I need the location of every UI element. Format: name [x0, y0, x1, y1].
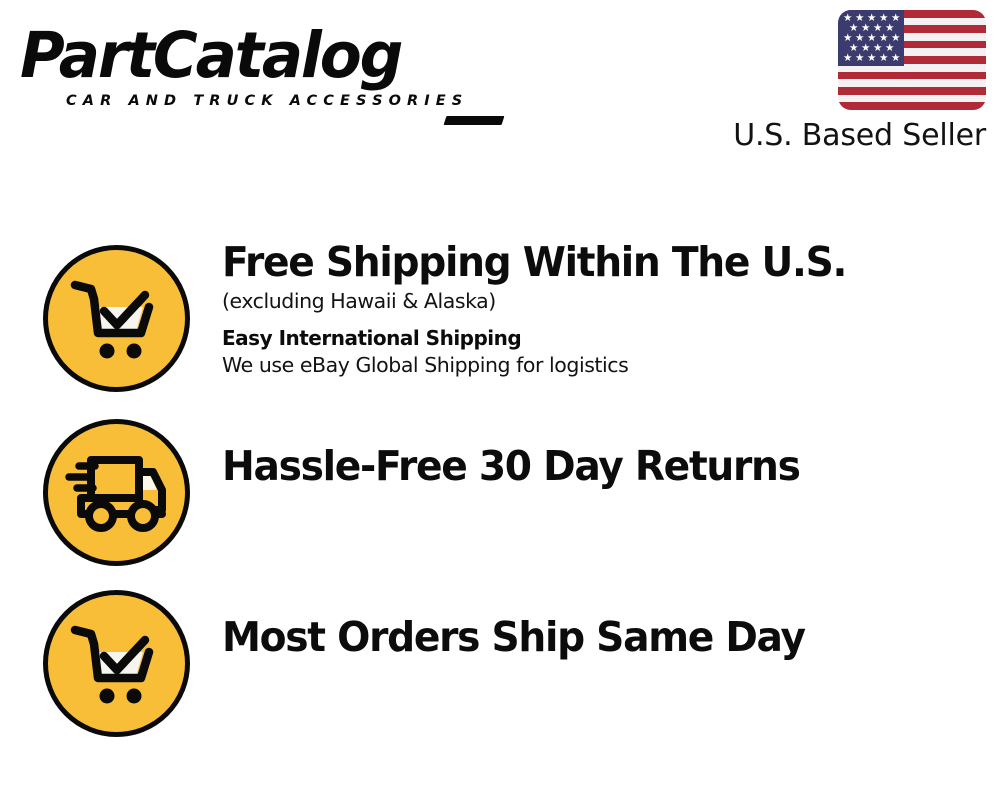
feature-title: Hassle-Free 30 Day Returns [222, 444, 957, 488]
brand-wordmark: PartCatalog [20, 24, 401, 87]
shopping-cart-check-icon [43, 590, 190, 737]
us-based-seller-label: U.S. Based Seller [733, 118, 986, 153]
feature-subtitle-detail: We use eBay Global Shipping for logistic… [222, 353, 992, 378]
delivery-truck-icon [43, 419, 190, 566]
feature-title: Free Shipping Within The U.S. [222, 240, 957, 284]
shopping-cart-check-icon [43, 245, 190, 392]
promo-banner: PartCatalog CAR AND TRUCK ACCESSORIES ★ … [0, 0, 1000, 800]
flag-stars: ★ ★ ★ ★ ★ ★ ★ ★ ★ ★ ★ ★ ★ ★ ★ ★ ★ ★ ★ ★ … [838, 10, 904, 66]
brand-tagline: CAR AND TRUCK ACCESSORIES [66, 94, 468, 109]
brand-logo[interactable]: PartCatalog CAR AND TRUCK ACCESSORIES [20, 24, 500, 116]
feature-title: Most Orders Ship Same Day [222, 615, 957, 659]
feature-text-block: Free Shipping Within The U.S. (excluding… [222, 240, 992, 378]
feature-subtitle-strong: Easy International Shipping [222, 326, 992, 350]
feature-text-block: Most Orders Ship Same Day [222, 585, 992, 659]
us-flag-icon: ★ ★ ★ ★ ★ ★ ★ ★ ★ ★ ★ ★ ★ ★ ★ ★ ★ ★ ★ ★ … [838, 10, 986, 110]
logo-swash-decoration [444, 116, 505, 125]
feature-subtitle: (excluding Hawaii & Alaska) [222, 289, 992, 314]
feature-text-block: Hassle-Free 30 Day Returns [222, 414, 992, 488]
